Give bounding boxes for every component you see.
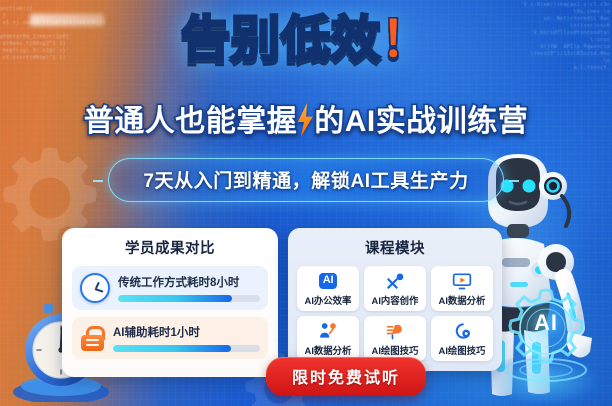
- comparison-row-ai: AI辅助耗时1小时: [72, 317, 268, 359]
- tagline-pill: 7天从入门到精通，解锁AI工具生产力: [108, 158, 503, 202]
- node-gear-icon: [452, 321, 472, 341]
- comparison-row-traditional: 传统工作方式耗时8小时: [72, 266, 268, 310]
- headline-container: 告别低效！: [0, 16, 612, 65]
- subtitle: 普通人也能掌握 的AI实战训练营: [84, 96, 529, 140]
- pen-brush-icon: [385, 271, 405, 291]
- module-item-data-2[interactable]: AI数据分析: [297, 316, 359, 361]
- hand-draw-icon: [385, 321, 405, 341]
- module-item-draw-2[interactable]: AI绘图技巧: [431, 316, 493, 361]
- progress-fill: [118, 295, 232, 302]
- module-label: AI绘图技巧: [433, 343, 491, 357]
- progress-bar-ai: [113, 345, 260, 352]
- progress-bar-traditional: [118, 295, 260, 302]
- clock-icon: [80, 273, 110, 303]
- subtitle-text-before: 普通人也能掌握: [84, 96, 298, 140]
- poster-root: function(){ } a1.sj.saetn.t((per$s11h003…: [0, 0, 612, 406]
- comparison-card: 学员成果对比 传统工作方式耗时8小时 AI辅助耗时1小时: [62, 228, 278, 377]
- comparison-card-title: 学员成果对比: [72, 237, 268, 258]
- comparison-row-body: 传统工作方式耗时8小时: [118, 274, 260, 302]
- headline-exclamation: ！: [381, 13, 431, 67]
- module-label: AI绘图技巧: [366, 343, 424, 357]
- module-item-content[interactable]: AI内容创作: [364, 266, 426, 311]
- modules-card: 课程模块 AI AI办公效率 AI内容创作: [288, 228, 502, 371]
- headline-text: 告别低效: [181, 13, 381, 67]
- subtitle-container: 普通人也能掌握 的AI实战训练营: [0, 96, 612, 140]
- cta-container: 限时免费试听: [266, 357, 426, 396]
- free-trial-button[interactable]: 限时免费试听: [266, 357, 426, 396]
- module-item-draw-1[interactable]: AI绘图技巧: [364, 316, 426, 361]
- ai-hologram: AI: [498, 284, 594, 384]
- ai-badge-icon: AI: [299, 271, 357, 291]
- tagline-container: 7天从入门到精通，解锁AI工具生产力: [0, 158, 612, 202]
- page-title: 告别低效！: [181, 16, 431, 65]
- modules-card-title: 课程模块: [297, 237, 493, 258]
- module-label: AI数据分析: [299, 343, 357, 357]
- comparison-row-body: AI辅助耗时1小时: [113, 324, 260, 352]
- modules-grid: AI AI办公效率 AI内容创作: [297, 266, 493, 361]
- lock-icon: [80, 326, 105, 351]
- person-chart-icon: [318, 321, 338, 341]
- module-item-office[interactable]: AI AI办公效率: [297, 266, 359, 311]
- subtitle-text-after: 的AI实战训练营: [314, 96, 528, 140]
- comparison-label: 传统工作方式耗时8小时: [118, 274, 260, 290]
- module-label: AI内容创作: [366, 293, 424, 307]
- hologram-label: AI: [498, 310, 594, 336]
- monitor-play-icon: [452, 271, 472, 291]
- module-label: AI数据分析: [433, 293, 491, 307]
- progress-fill: [113, 345, 231, 352]
- cards-row: 学员成果对比 传统工作方式耗时8小时 AI辅助耗时1小时 课程模块: [62, 228, 502, 377]
- lightning-bolt-icon: [294, 103, 316, 137]
- module-label: AI办公效率: [299, 293, 357, 307]
- comparison-label: AI辅助耗时1小时: [113, 324, 260, 340]
- module-item-data-1[interactable]: AI数据分析: [431, 266, 493, 311]
